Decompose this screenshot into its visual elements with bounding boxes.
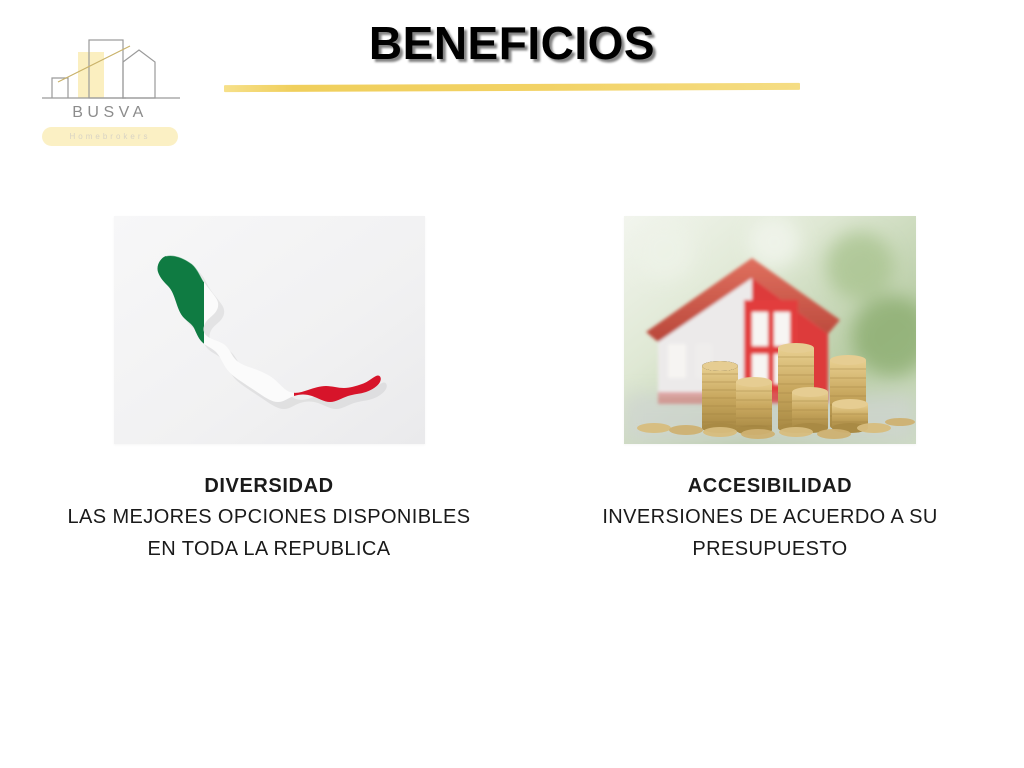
title-underline-rule	[224, 83, 800, 92]
benefit-body: LAS MEJORES OPCIONES DISPONIBLES EN TODA…	[14, 501, 524, 565]
brand-logo: BUSVA Homebrokers	[34, 26, 186, 142]
benefit-column-accesibilidad: ACCESIBILIDAD INVERSIONES DE ACUERDO A S…	[548, 216, 992, 565]
benefit-column-diversidad: DIVERSIDAD LAS MEJORES OPCIONES DISPONIB…	[14, 216, 524, 565]
slide-title: BENEFICIOS	[224, 16, 800, 70]
logo-tagline-pill: Homebrokers	[42, 127, 178, 146]
logo-wordmark: BUSVA	[34, 104, 186, 122]
mexico-map-image	[114, 216, 425, 444]
building-logo-icon	[34, 26, 186, 104]
benefit-caption-diversidad: DIVERSIDAD LAS MEJORES OPCIONES DISPONIB…	[14, 471, 524, 565]
benefit-body: INVERSIONES DE ACUERDO A SU PRESUPUESTO	[548, 501, 992, 565]
house-coins-image	[624, 216, 916, 444]
benefit-heading: ACCESIBILIDAD	[548, 471, 992, 501]
slide-canvas: BUSVA Homebrokers BENEFICIOS	[0, 0, 1024, 768]
logo-tagline: Homebrokers	[42, 127, 178, 146]
benefit-heading: DIVERSIDAD	[14, 471, 524, 501]
benefit-caption-accesibilidad: ACCESIBILIDAD INVERSIONES DE ACUERDO A S…	[548, 471, 992, 565]
